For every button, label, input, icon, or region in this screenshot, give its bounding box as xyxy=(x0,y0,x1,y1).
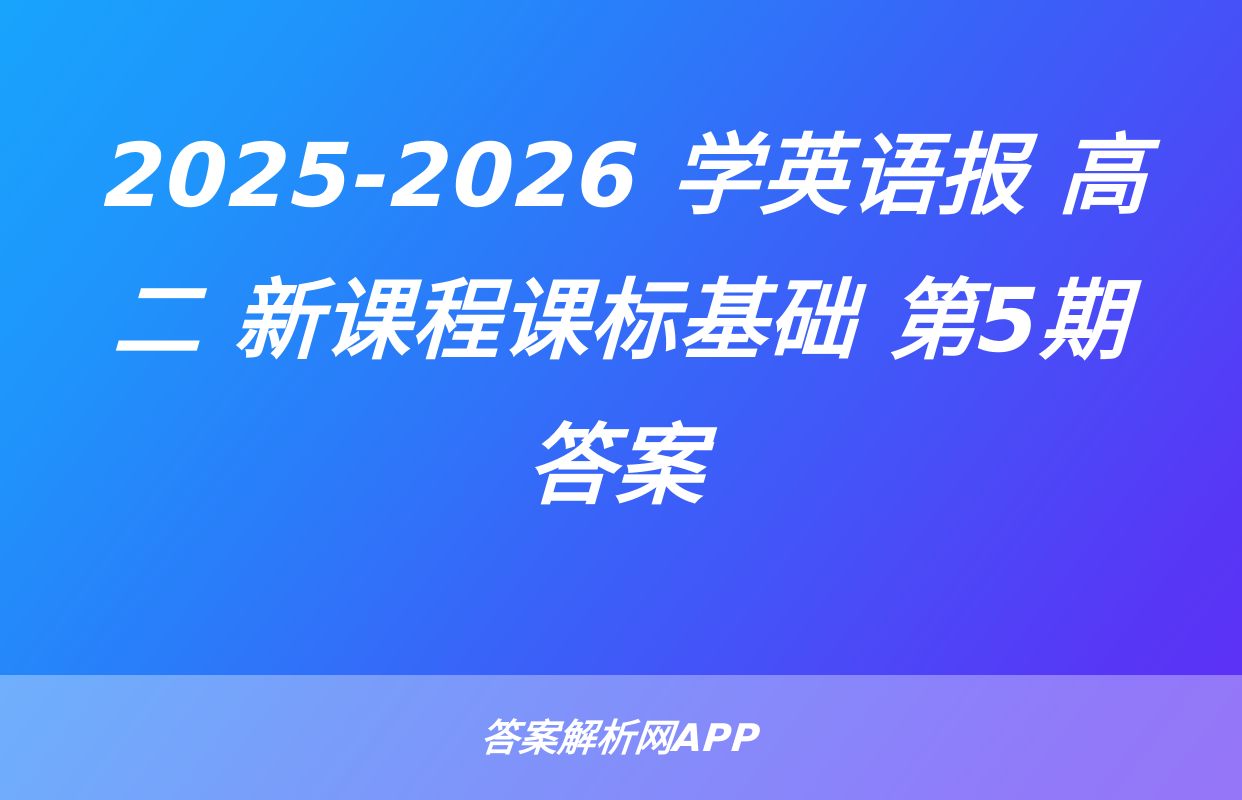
watermark-label: 答案解析网APP xyxy=(479,719,762,757)
poster-canvas: 2025-2026 学英语报 高二 新课程课标基础 第5期答案 答案解析网APP xyxy=(0,0,1242,800)
page-title: 2025-2026 学英语报 高二 新课程课标基础 第5期答案 xyxy=(64,103,1177,538)
watermark-band: 答案解析网APP xyxy=(0,675,1242,800)
headline-area: 2025-2026 学英语报 高二 新课程课标基础 第5期答案 xyxy=(0,0,1242,675)
